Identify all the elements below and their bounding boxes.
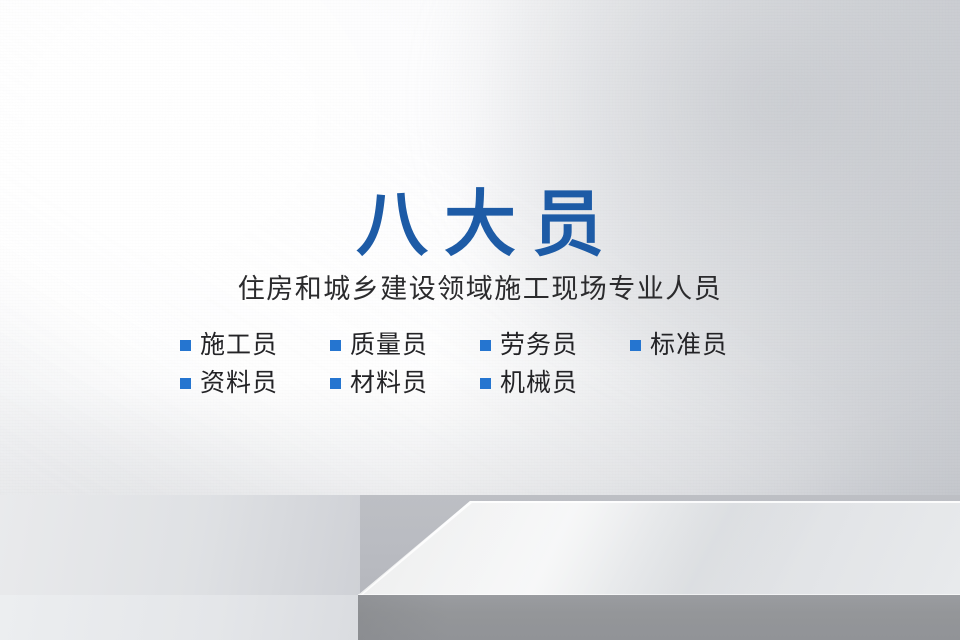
role-list: 施工员 质量员 劳务员 标准员 资料员 材料员 xyxy=(180,331,780,399)
square-bullet-icon xyxy=(330,340,341,351)
banner-content: 八大员 住房和城乡建设领域施工现场专业人员 施工员 质量员 劳务员 标准员 xyxy=(0,186,960,398)
square-bullet-icon xyxy=(180,340,191,351)
square-bullet-icon xyxy=(630,340,641,351)
role-item-laowuyuan: 劳务员 xyxy=(480,331,578,360)
square-bullet-icon xyxy=(330,378,341,389)
role-label: 机械员 xyxy=(500,369,578,398)
role-label: 施工员 xyxy=(200,331,278,360)
role-label: 标准员 xyxy=(650,331,728,360)
product-display-podium xyxy=(0,495,960,640)
role-item-zhiliangyuan: 质量员 xyxy=(330,331,428,360)
role-item-cailiaoyuan: 材料员 xyxy=(330,369,428,398)
role-label: 资料员 xyxy=(200,369,278,398)
role-item-ziliaoyuan: 资料员 xyxy=(180,369,278,398)
role-item-biaozhunyuan: 标准员 xyxy=(630,331,728,360)
podium-front-face xyxy=(358,595,960,640)
podium-floor-left xyxy=(0,595,358,640)
role-label: 材料员 xyxy=(350,369,428,398)
square-bullet-icon xyxy=(480,340,491,351)
role-label: 劳务员 xyxy=(500,331,578,360)
role-label: 质量员 xyxy=(350,331,428,360)
banner-stage: 八大员 住房和城乡建设领域施工现场专业人员 施工员 质量员 劳务员 标准员 xyxy=(0,0,960,640)
role-item-jixieyuan: 机械员 xyxy=(480,369,578,398)
square-bullet-icon xyxy=(180,378,191,389)
subtitle: 住房和城乡建设领域施工现场专业人员 xyxy=(0,274,960,306)
role-item-shigongyuan: 施工员 xyxy=(180,331,278,360)
podium-back-wall-left xyxy=(0,495,360,596)
square-bullet-icon xyxy=(480,378,491,389)
main-title: 八大员 xyxy=(0,186,960,262)
podium-front-shadow xyxy=(358,595,448,640)
